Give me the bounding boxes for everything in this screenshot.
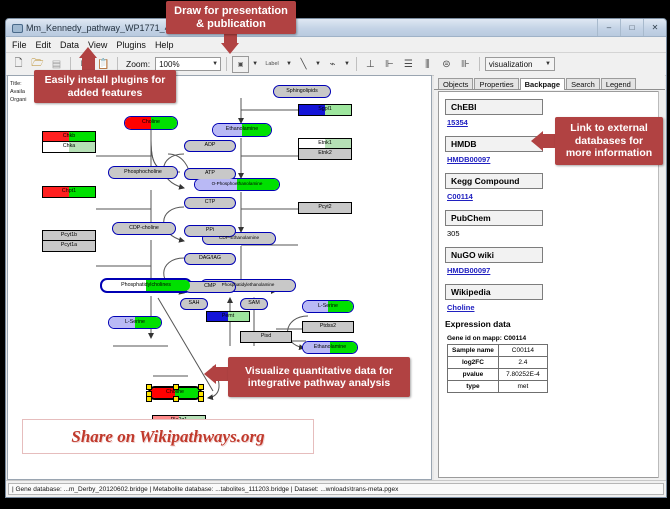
toolbar-sep-1: [70, 57, 71, 71]
menu-data[interactable]: Data: [60, 40, 79, 50]
visualization-select[interactable]: visualization ▼: [485, 57, 555, 71]
callout-plugins-arrow: [79, 47, 97, 58]
toolbar-sep-2: [117, 57, 118, 71]
row-value-type: met: [498, 381, 547, 393]
node-l-serine-left[interactable]: L-Serine: [108, 316, 162, 329]
gene-chpt1[interactable]: Chpt1: [42, 186, 96, 198]
distribute-icon[interactable]: ⫼: [419, 56, 436, 73]
table-row: Sample name C00114: [448, 345, 548, 357]
row-key-type: type: [448, 381, 499, 393]
gene-etnk1[interactable]: Etnk1: [298, 138, 352, 149]
screenshot-root: Mm_Kennedy_pathway_WP1771_45176.gpml – □…: [0, 0, 670, 509]
callout-plugins: Easily install plugins for added feature…: [34, 70, 176, 103]
menu-help[interactable]: Help: [155, 40, 174, 50]
row-value-sample-name: C00114: [498, 345, 547, 357]
toolbar-sep-5: [479, 57, 480, 71]
node-ctp[interactable]: CTP: [184, 197, 236, 209]
toolbar-sep-4: [356, 57, 357, 71]
node-phosphatidylcholines[interactable]: Phosphatidylcholines: [100, 278, 192, 293]
table-row: pvalue 7.80252E-4: [448, 369, 548, 381]
gene-pcyt1b[interactable]: Pcyt1b: [42, 230, 96, 241]
maximize-button[interactable]: □: [620, 19, 643, 36]
zoom-label: Zoom:: [126, 59, 150, 69]
node-choline-top[interactable]: Choline: [124, 116, 178, 130]
row-value-log2fc: 2.4: [498, 357, 547, 369]
gene-pcyt1a[interactable]: Pcyt1a: [42, 241, 96, 252]
menu-edit[interactable]: Edit: [36, 40, 52, 50]
selection-group[interactable]: Choline: [146, 384, 204, 402]
callout-visualize-arrow: [204, 364, 216, 384]
node-o-phosphoethanolamine[interactable]: O-Phosphoethanolamine: [194, 178, 280, 191]
callout-link: Link to external databases for more info…: [555, 117, 663, 165]
node-dag-iag[interactable]: DAG/IAG: [184, 253, 236, 265]
datanode-icon[interactable]: ▣: [232, 56, 249, 73]
resize-handle-sw[interactable]: [146, 396, 152, 402]
gene-pemt[interactable]: Pemt: [206, 311, 250, 322]
toolbar-sep-3: [226, 57, 227, 71]
tab-properties[interactable]: Properties: [474, 78, 518, 90]
share-banner: Share on Wikipathways.org: [22, 419, 314, 454]
tab-search[interactable]: Search: [566, 78, 600, 90]
node-ethanolamine-right[interactable]: Ethanolamine: [302, 341, 358, 354]
callout-visualize: Visualize quantitative data for integrat…: [228, 357, 410, 397]
row-key-pvalue: pvalue: [448, 369, 499, 381]
section-header-kegg: Kegg Compound: [445, 173, 543, 189]
resize-handle-se[interactable]: [198, 396, 204, 402]
status-bar: | Gene database: ...m_Derby_20120602.bri…: [6, 480, 666, 497]
link-wikipedia[interactable]: Choline: [447, 303, 660, 312]
node-phosphocholine[interactable]: Phosphocholine: [108, 166, 178, 179]
menu-bar: File Edit Data View Plugins Help: [6, 37, 666, 53]
stack-icon[interactable]: ☰: [400, 56, 417, 73]
row-value-pvalue: 7.80252E-4: [498, 369, 547, 381]
app-icon: [11, 22, 22, 33]
gene-id-line: Gene id on mapp: C00114: [447, 335, 660, 342]
line-chevron-icon[interactable]: ▼: [315, 61, 321, 67]
anchor-icon[interactable]: ⌁: [324, 56, 341, 73]
node-cdp-choline[interactable]: CDP-choline: [112, 222, 176, 235]
title-bar: Mm_Kennedy_pathway_WP1771_45176.gpml – □…: [6, 19, 666, 37]
section-header-wikipedia: Wikipedia: [445, 284, 543, 300]
expression-table: Sample name C00114 log2FC 2.4 pvalue 7.8…: [447, 344, 548, 393]
callout-draw-arrow: [221, 43, 239, 54]
gene-sgpl1[interactable]: Sgpl1: [298, 104, 352, 116]
visualization-value: visualization: [489, 60, 533, 69]
section-header-hmdb: HMDB: [445, 136, 543, 152]
new-file-icon[interactable]: 🗋: [10, 56, 27, 73]
tab-legend[interactable]: Legend: [601, 78, 636, 90]
common-size-icon[interactable]: ⊜: [438, 56, 455, 73]
value-pubchem: 305: [447, 229, 660, 238]
row-key-log2fc: log2FC: [448, 357, 499, 369]
link-kegg[interactable]: C00114: [447, 192, 660, 201]
link-nugo[interactable]: HMDB00097: [447, 266, 660, 275]
close-button[interactable]: ✕: [643, 19, 666, 36]
callout-draw: Draw for presentation & publication: [166, 1, 296, 34]
table-row: type met: [448, 381, 548, 393]
align-left-icon[interactable]: ⊩: [381, 56, 398, 73]
node-sah[interactable]: SAH: [180, 298, 208, 310]
node-ethanolamine-top[interactable]: Ethanolamine: [212, 123, 272, 137]
gene-chka[interactable]: Chka: [42, 142, 96, 153]
resize-handle-nw[interactable]: [146, 384, 152, 390]
menu-file[interactable]: File: [12, 40, 27, 50]
share-text: Share on Wikipathways.org: [71, 427, 264, 447]
tab-backpage[interactable]: Backpage: [520, 78, 565, 91]
side-panel-tabs: Objects Properties Backpage Search Legen…: [434, 75, 665, 90]
gene-pcyt2[interactable]: Pcyt2: [298, 202, 352, 214]
zoom-value: 100%: [159, 60, 179, 69]
gene-ptdss2[interactable]: Ptdss2: [302, 321, 354, 333]
align-right-icon[interactable]: ⊪: [457, 56, 474, 73]
menu-plugins[interactable]: Plugins: [116, 40, 146, 50]
expression-data-title: Expression data: [445, 319, 660, 329]
node-adp[interactable]: ADP: [184, 140, 236, 152]
meta-title: Title:: [10, 80, 27, 88]
row-key-sample-name: Sample name: [448, 345, 499, 357]
meta-organism: Organi: [10, 96, 27, 104]
line-icon[interactable]: ╲: [295, 56, 312, 73]
anchor-chevron-icon[interactable]: ▼: [344, 61, 350, 67]
resize-handle-n[interactable]: [173, 384, 179, 390]
label-chevron-icon[interactable]: ▼: [286, 61, 292, 67]
section-header-nugo: NuGO wiki: [445, 247, 543, 263]
table-row: log2FC 2.4: [448, 357, 548, 369]
canvas-meta: Title: Availa Organi: [10, 80, 27, 104]
node-l-serine-right[interactable]: L-Serine: [302, 300, 354, 313]
gene-pisd[interactable]: Pisd: [240, 331, 292, 343]
datanode-chevron-icon[interactable]: ▼: [252, 61, 258, 67]
label-button[interactable]: Label: [261, 56, 283, 73]
gene-etnk2[interactable]: Etnk2: [298, 149, 352, 160]
gene-chkb[interactable]: Chkb: [42, 131, 96, 142]
callout-link-arrow: [531, 131, 543, 151]
resize-handle-ne[interactable]: [198, 384, 204, 390]
chevron-down-icon: ▼: [212, 61, 218, 67]
meta-availab: Availa: [10, 88, 27, 96]
status-text: | Gene database: ...m_Derby_20120602.bri…: [8, 483, 664, 495]
section-header-pubchem: PubChem: [445, 210, 543, 226]
window-controls: – □ ✕: [597, 19, 666, 36]
chevron-down-icon-2: ▼: [545, 61, 551, 67]
resize-handle-s[interactable]: [173, 396, 179, 402]
minimize-button[interactable]: –: [597, 19, 620, 36]
node-sam[interactable]: SAM: [240, 298, 268, 310]
section-header-chebi: ChEBI: [445, 99, 543, 115]
align-top-icon[interactable]: ⊥: [362, 56, 379, 73]
zoom-select[interactable]: 100% ▼: [155, 57, 221, 71]
node-sphingolipids[interactable]: Sphingolipids: [273, 85, 331, 98]
tab-objects[interactable]: Objects: [438, 78, 473, 90]
